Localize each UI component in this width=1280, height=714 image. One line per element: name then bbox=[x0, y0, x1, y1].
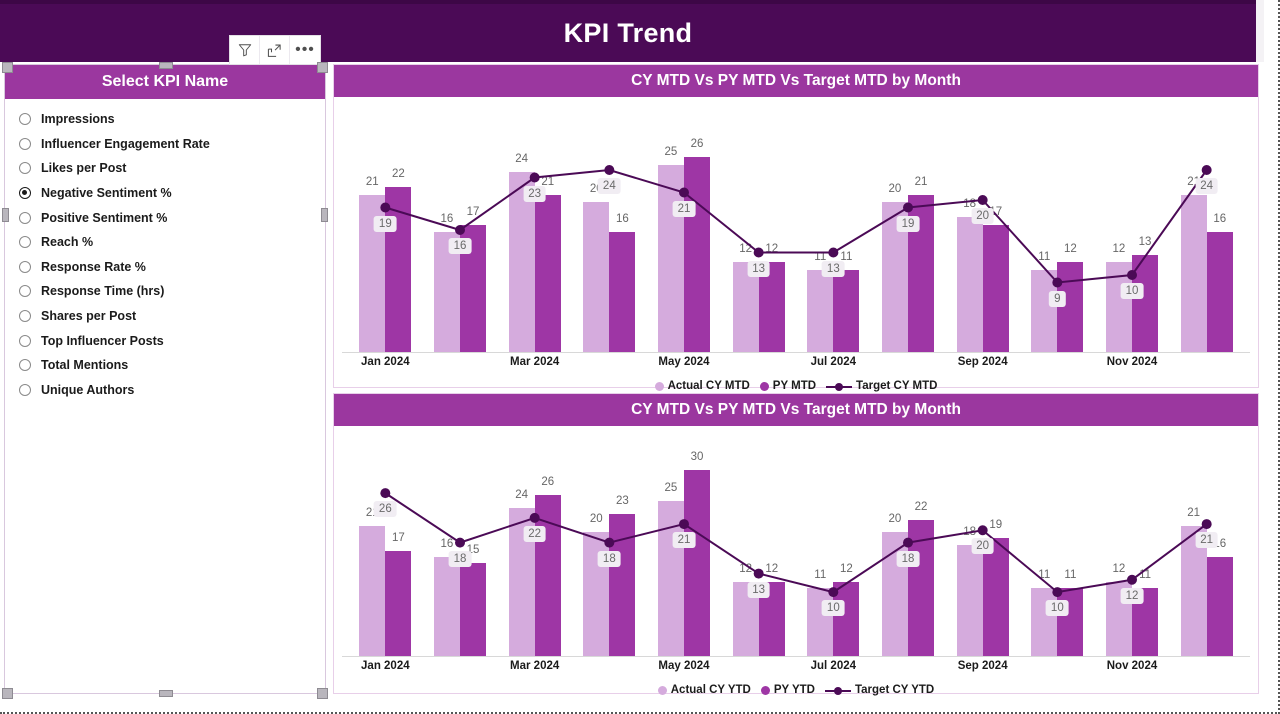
bar-group[interactable] bbox=[434, 428, 486, 656]
line-value-label: 19 bbox=[374, 216, 397, 232]
axis-tick-label: Nov 2024 bbox=[1107, 660, 1158, 672]
legend-label: Actual CY MTD bbox=[668, 380, 750, 392]
legend-label: Actual CY YTD bbox=[671, 684, 751, 696]
chart-card-mtd[interactable]: CY MTD Vs PY MTD Vs Target MTD by Month … bbox=[333, 64, 1259, 388]
bar-actual-cy-mtd[interactable] bbox=[807, 270, 833, 353]
axis-tick-label: Mar 2024 bbox=[510, 356, 559, 368]
bar-group[interactable] bbox=[583, 428, 635, 656]
radio-icon[interactable] bbox=[19, 359, 31, 371]
resize-handle-middle-left[interactable] bbox=[2, 208, 9, 222]
line-value-label: 23 bbox=[523, 186, 546, 202]
bar-py-ytd[interactable] bbox=[385, 551, 411, 656]
resize-handle-top-left[interactable] bbox=[2, 62, 13, 73]
bar-py-ytd[interactable] bbox=[460, 563, 486, 656]
bar-group[interactable] bbox=[359, 428, 411, 656]
more-options-icon[interactable]: ••• bbox=[290, 36, 320, 64]
resize-handle-bottom-center[interactable] bbox=[159, 690, 173, 697]
bars-layer: 2122161724212016252612121111202118171112… bbox=[334, 97, 1258, 352]
bar-actual-cy-ytd[interactable] bbox=[434, 557, 460, 656]
bar-actual-cy-ytd[interactable] bbox=[658, 501, 684, 656]
chart-title-mtd: CY MTD Vs PY MTD Vs Target MTD by Month bbox=[631, 72, 961, 90]
radio-icon[interactable] bbox=[19, 138, 31, 150]
line-value-label: 26 bbox=[374, 501, 397, 517]
slicer-item-label: Impressions bbox=[41, 112, 115, 126]
axis-tick-label: May 2024 bbox=[658, 660, 709, 672]
bar-group[interactable] bbox=[807, 99, 859, 352]
slicer-item-response-rate[interactable]: Response Rate % bbox=[19, 255, 325, 280]
focus-mode-icon[interactable] bbox=[260, 36, 290, 64]
chart-title-ytd: CY MTD Vs PY MTD Vs Target MTD by Month bbox=[631, 401, 961, 419]
legend-dot-marker bbox=[658, 686, 667, 695]
line-value-label: 18 bbox=[449, 551, 472, 567]
line-value-label: 21 bbox=[673, 532, 696, 548]
bar-actual-cy-ytd[interactable] bbox=[359, 526, 385, 656]
bar-py-ytd[interactable] bbox=[1057, 588, 1083, 656]
axis-tick-label: Sep 2024 bbox=[958, 356, 1008, 368]
slicer-option-list[interactable]: ImpressionsInfluencer Engagement RateLik… bbox=[5, 99, 325, 402]
bar-py-ytd[interactable] bbox=[983, 538, 1009, 656]
bar-py-mtd[interactable] bbox=[684, 157, 710, 352]
report-banner: KPI Trend bbox=[0, 4, 1256, 62]
bar-py-ytd[interactable] bbox=[833, 582, 859, 656]
legend-label: PY YTD bbox=[774, 684, 815, 696]
slicer-item-label: Shares per Post bbox=[41, 309, 136, 323]
bar-py-mtd[interactable] bbox=[535, 195, 561, 353]
line-value-label: 10 bbox=[1121, 283, 1144, 299]
slicer-item-positive-sentiment[interactable]: Positive Sentiment % bbox=[19, 205, 325, 230]
legend-label: Target CY MTD bbox=[856, 380, 937, 392]
bar-actual-cy-mtd[interactable] bbox=[1181, 195, 1207, 353]
radio-icon[interactable] bbox=[19, 261, 31, 273]
kpi-slicer[interactable]: Select KPI Name ImpressionsInfluencer En… bbox=[4, 64, 326, 694]
slicer-item-label: Response Rate % bbox=[41, 260, 146, 274]
radio-icon[interactable] bbox=[19, 335, 31, 347]
legend-item[interactable]: Actual CY YTD bbox=[658, 684, 751, 696]
page-title: KPI Trend bbox=[564, 18, 693, 49]
bar-py-mtd[interactable] bbox=[833, 270, 859, 353]
line-value-label: 18 bbox=[598, 551, 621, 567]
bar-group[interactable] bbox=[509, 99, 561, 352]
resize-handle-bottom-right[interactable] bbox=[317, 688, 328, 699]
bar-py-ytd[interactable] bbox=[1207, 557, 1233, 656]
slicer-item-label: Positive Sentiment % bbox=[41, 211, 167, 225]
slicer-item-label: Response Time (hrs) bbox=[41, 284, 164, 298]
resize-handle-middle-right[interactable] bbox=[321, 208, 328, 222]
axis-tick-label: Jan 2024 bbox=[361, 356, 410, 368]
chart-header-mtd: CY MTD Vs PY MTD Vs Target MTD by Month bbox=[334, 65, 1258, 97]
bar-actual-cy-mtd[interactable] bbox=[1106, 262, 1132, 352]
slicer-item-label: Reach % bbox=[41, 235, 93, 249]
axis-tick-label: Sep 2024 bbox=[958, 660, 1008, 672]
line-value-label: 9 bbox=[1049, 291, 1065, 307]
line-value-label: 10 bbox=[1046, 600, 1069, 616]
x-axis-mtd: Jan 2024Mar 2024May 2024Jul 2024Sep 2024… bbox=[342, 352, 1250, 374]
radio-icon[interactable] bbox=[19, 162, 31, 174]
slicer-item-label: Unique Authors bbox=[41, 383, 134, 397]
legend-item[interactable]: Actual CY MTD bbox=[655, 380, 750, 392]
bar-actual-cy-mtd[interactable] bbox=[583, 202, 609, 352]
radio-icon[interactable] bbox=[19, 310, 31, 322]
bar-group[interactable] bbox=[1106, 428, 1158, 656]
line-value-label: 18 bbox=[897, 551, 920, 567]
bar-group[interactable] bbox=[1181, 99, 1233, 352]
bar-py-ytd[interactable] bbox=[609, 514, 635, 656]
line-value-label: 20 bbox=[971, 208, 994, 224]
axis-tick-label: Jul 2024 bbox=[811, 660, 856, 672]
line-value-label: 22 bbox=[523, 526, 546, 542]
bar-actual-cy-ytd[interactable] bbox=[1031, 588, 1057, 656]
resize-handle-top-right[interactable] bbox=[317, 62, 328, 73]
bar-group[interactable] bbox=[957, 99, 1009, 352]
slicer-item-label: Likes per Post bbox=[41, 161, 126, 175]
legend-line-marker bbox=[826, 382, 852, 391]
bar-py-mtd[interactable] bbox=[609, 232, 635, 352]
slicer-header: Select KPI Name bbox=[5, 65, 325, 99]
x-axis-ytd: Jan 2024Mar 2024May 2024Jul 2024Sep 2024… bbox=[342, 656, 1250, 678]
line-value-label: 20 bbox=[971, 538, 994, 554]
bars-layer: 2117161524262023253012121112202218191111… bbox=[334, 426, 1258, 656]
chart-header-ytd: CY MTD Vs PY MTD Vs Target MTD by Month bbox=[334, 394, 1258, 426]
radio-icon[interactable] bbox=[19, 113, 31, 125]
bar-group[interactable] bbox=[807, 428, 859, 656]
bar-py-ytd[interactable] bbox=[684, 470, 710, 656]
bar-py-mtd[interactable] bbox=[1132, 255, 1158, 353]
slicer-item-unique-authors[interactable]: Unique Authors bbox=[19, 378, 325, 403]
line-value-label: 21 bbox=[1195, 532, 1218, 548]
banner-right-filler bbox=[1256, 0, 1264, 62]
visual-header-toolbar[interactable]: ••• bbox=[229, 35, 321, 65]
bar-group[interactable] bbox=[882, 428, 934, 656]
slicer-item-impressions[interactable]: Impressions bbox=[19, 107, 325, 132]
axis-tick-label: May 2024 bbox=[658, 356, 709, 368]
radio-selected-icon[interactable] bbox=[19, 187, 31, 199]
report-canvas: KPI Trend ••• Select KPI Name Impression… bbox=[0, 0, 1280, 714]
line-value-label: 19 bbox=[897, 216, 920, 232]
chart-card-ytd[interactable]: CY MTD Vs PY MTD Vs Target MTD by Month … bbox=[333, 393, 1259, 694]
axis-tick-label: Jan 2024 bbox=[361, 660, 410, 672]
legend-line-marker bbox=[825, 686, 851, 695]
slicer-item-response-time-hrs[interactable]: Response Time (hrs) bbox=[19, 279, 325, 304]
plot-area-ytd: 2117161524262023253012121112202218191111… bbox=[334, 426, 1258, 656]
bar-group[interactable] bbox=[1106, 99, 1158, 352]
axis-tick-label: Jul 2024 bbox=[811, 356, 856, 368]
slicer-item-likes-per-post[interactable]: Likes per Post bbox=[19, 156, 325, 181]
bar-group[interactable] bbox=[1031, 99, 1083, 352]
axis-tick-label: Nov 2024 bbox=[1107, 356, 1158, 368]
line-value-label: 24 bbox=[598, 178, 621, 194]
line-value-label: 13 bbox=[747, 261, 770, 277]
bar-actual-cy-mtd[interactable] bbox=[1031, 270, 1057, 353]
bar-group[interactable] bbox=[1031, 428, 1083, 656]
line-value-label: 16 bbox=[449, 238, 472, 254]
slicer-item-label: Negative Sentiment % bbox=[41, 186, 172, 200]
resize-handle-top-center[interactable] bbox=[159, 62, 173, 69]
bar-group[interactable] bbox=[509, 428, 561, 656]
legend-item[interactable]: PY YTD bbox=[761, 684, 815, 696]
line-value-label: 24 bbox=[1195, 178, 1218, 194]
slicer-item-label: Total Mentions bbox=[41, 358, 128, 372]
slicer-title: Select KPI Name bbox=[102, 73, 228, 91]
line-value-label: 13 bbox=[822, 261, 845, 277]
legend-dot-marker bbox=[655, 382, 664, 391]
bar-actual-cy-mtd[interactable] bbox=[658, 165, 684, 353]
bar-group[interactable] bbox=[733, 428, 785, 656]
canvas-right-gutter bbox=[1264, 0, 1278, 714]
bar-py-mtd[interactable] bbox=[1057, 262, 1083, 352]
slicer-item-shares-per-post[interactable]: Shares per Post bbox=[19, 304, 325, 329]
bar-py-ytd[interactable] bbox=[908, 520, 934, 656]
legend-item[interactable]: PY MTD bbox=[760, 380, 816, 392]
bar-py-ytd[interactable] bbox=[535, 495, 561, 656]
ellipsis-glyph: ••• bbox=[295, 45, 315, 55]
legend-ytd[interactable]: Actual CY YTDPY YTDTarget CY YTD bbox=[334, 678, 1258, 702]
bar-group[interactable] bbox=[434, 99, 486, 352]
slicer-item-reach[interactable]: Reach % bbox=[19, 230, 325, 255]
slicer-item-top-influencer-posts[interactable]: Top Influencer Posts bbox=[19, 328, 325, 353]
axis-tick-label: Mar 2024 bbox=[510, 660, 559, 672]
bar-actual-cy-mtd[interactable] bbox=[957, 217, 983, 352]
filter-icon[interactable] bbox=[230, 36, 260, 64]
slicer-item-influencer-engagement-rate[interactable]: Influencer Engagement Rate bbox=[19, 132, 325, 157]
bar-group[interactable] bbox=[733, 99, 785, 352]
slicer-item-negative-sentiment[interactable]: Negative Sentiment % bbox=[19, 181, 325, 206]
legend-dot-marker bbox=[760, 382, 769, 391]
line-value-label: 10 bbox=[822, 600, 845, 616]
legend-item[interactable]: Target CY YTD bbox=[825, 684, 934, 696]
resize-handle-bottom-left[interactable] bbox=[2, 688, 13, 699]
bar-group[interactable] bbox=[583, 99, 635, 352]
bar-py-mtd[interactable] bbox=[983, 225, 1009, 353]
bar-actual-cy-ytd[interactable] bbox=[957, 545, 983, 656]
radio-icon[interactable] bbox=[19, 212, 31, 224]
bar-py-mtd[interactable] bbox=[385, 187, 411, 352]
bar-py-mtd[interactable] bbox=[1207, 232, 1233, 352]
radio-icon[interactable] bbox=[19, 384, 31, 396]
line-value-label: 12 bbox=[1121, 588, 1144, 604]
plot-area-mtd: 2122161724212016252612121111202118171112… bbox=[334, 97, 1258, 352]
legend-label: PY MTD bbox=[773, 380, 816, 392]
legend-item[interactable]: Target CY MTD bbox=[826, 380, 937, 392]
radio-icon[interactable] bbox=[19, 236, 31, 248]
line-value-label: 21 bbox=[673, 201, 696, 217]
slicer-item-label: Influencer Engagement Rate bbox=[41, 137, 210, 151]
legend-dot-marker bbox=[761, 686, 770, 695]
line-value-label: 13 bbox=[747, 582, 770, 598]
legend-label: Target CY YTD bbox=[855, 684, 934, 696]
slicer-item-label: Top Influencer Posts bbox=[41, 334, 164, 348]
bar-group[interactable] bbox=[658, 99, 710, 352]
slicer-item-total-mentions[interactable]: Total Mentions bbox=[19, 353, 325, 378]
bar-actual-cy-ytd[interactable] bbox=[807, 588, 833, 656]
radio-icon[interactable] bbox=[19, 285, 31, 297]
